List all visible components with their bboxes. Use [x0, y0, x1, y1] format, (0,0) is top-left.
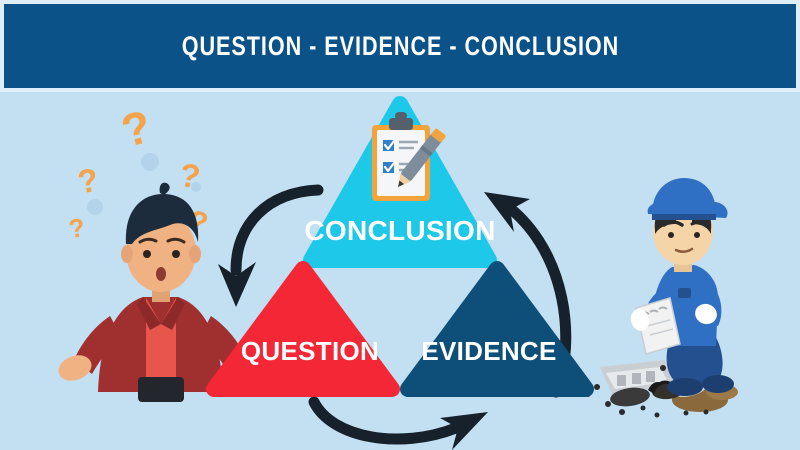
diagram-canvas: ? ? ? ? ?: [0, 92, 800, 450]
page-title: QUESTION - EVIDENCE - CONCLUSION: [181, 31, 619, 62]
node-evidence-label: EVIDENCE: [421, 336, 556, 366]
node-conclusion-label: CONCLUSION: [304, 215, 495, 246]
header-banner: QUESTION - EVIDENCE - CONCLUSION: [4, 4, 796, 88]
svg-text:?: ?: [116, 100, 156, 157]
node-conclusion[interactable]: CONCLUSION: [304, 104, 495, 260]
header-band: QUESTION - EVIDENCE - CONCLUSION: [0, 0, 800, 92]
node-question-label: QUESTION: [241, 336, 379, 366]
svg-text:?: ?: [67, 212, 87, 244]
infographic-root: QUESTION - EVIDENCE - CONCLUSION ? ? ? ?…: [0, 0, 800, 450]
arrow-question-to-evidence: [314, 402, 488, 450]
investigator-illustration: [586, 178, 738, 418]
svg-text:?: ?: [75, 161, 101, 201]
